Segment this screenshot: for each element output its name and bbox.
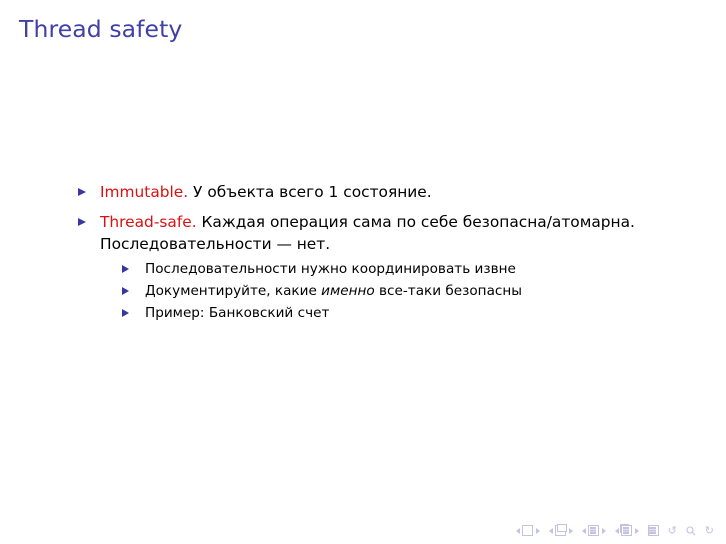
section-icon[interactable] xyxy=(621,525,632,536)
next-subsection-icon[interactable] xyxy=(602,528,606,534)
subsection-navigation[interactable] xyxy=(582,525,606,536)
item-text: У объекта всего 1 состояние. xyxy=(188,183,432,201)
document-icon[interactable] xyxy=(648,525,659,536)
subitem-text-pre: Последовательности нужно координировать … xyxy=(145,261,516,277)
subitem-text-pre: Документируйте, какие xyxy=(145,283,321,299)
previous-subsection-icon[interactable] xyxy=(582,528,586,534)
subsection-icon[interactable] xyxy=(588,525,599,536)
list-item: Последовательности нужно координировать … xyxy=(100,260,640,280)
next-frame-icon[interactable] xyxy=(569,528,573,534)
slide-icon[interactable] xyxy=(522,525,533,536)
slide-body: Immutable. У объекта всего 1 состояние. … xyxy=(0,182,726,326)
back-icon[interactable]: ↺ xyxy=(668,525,677,536)
page-title: Thread safety xyxy=(19,17,182,43)
triangle-bullet-icon xyxy=(78,218,86,226)
subitem-text-pre: Пример: Банковский счет xyxy=(145,305,329,321)
item-emphasis: Thread-safe. xyxy=(100,213,197,231)
frame-icon[interactable] xyxy=(555,525,566,536)
list-item: Immutable. У объекта всего 1 состояние. xyxy=(0,182,640,204)
beamer-navigation-bar[interactable]: ↺ ↻ xyxy=(516,525,714,536)
next-section-icon[interactable] xyxy=(635,528,639,534)
section-navigation[interactable] xyxy=(615,525,639,536)
triangle-bullet-icon xyxy=(122,309,129,317)
subitem-text-italic: именно xyxy=(321,283,375,299)
list-item: Документируйте, какие именно все-таки бе… xyxy=(100,282,640,302)
next-slide-icon[interactable] xyxy=(536,528,540,534)
previous-section-icon[interactable] xyxy=(615,528,619,534)
item-emphasis: Immutable. xyxy=(100,183,188,201)
previous-slide-icon[interactable] xyxy=(516,528,520,534)
triangle-bullet-icon xyxy=(78,188,86,196)
triangle-bullet-icon xyxy=(122,265,129,273)
list-item: Thread-safe. Каждая операция сама по себ… xyxy=(0,212,640,324)
sub-outline-list: Последовательности нужно координировать … xyxy=(100,260,640,324)
search-icon[interactable] xyxy=(686,526,696,536)
outline-list: Immutable. У объекта всего 1 состояние. … xyxy=(0,182,726,324)
frame-navigation[interactable] xyxy=(549,525,573,536)
slide-navigation[interactable] xyxy=(516,525,540,536)
list-item: Пример: Банковский счет xyxy=(100,304,640,324)
triangle-bullet-icon xyxy=(122,287,129,295)
previous-frame-icon[interactable] xyxy=(549,528,553,534)
subitem-text-post: все-таки безопасны xyxy=(375,283,522,299)
beamer-slide: Thread safety Immutable. У объекта всего… xyxy=(0,0,726,544)
forward-icon[interactable]: ↻ xyxy=(705,525,714,536)
